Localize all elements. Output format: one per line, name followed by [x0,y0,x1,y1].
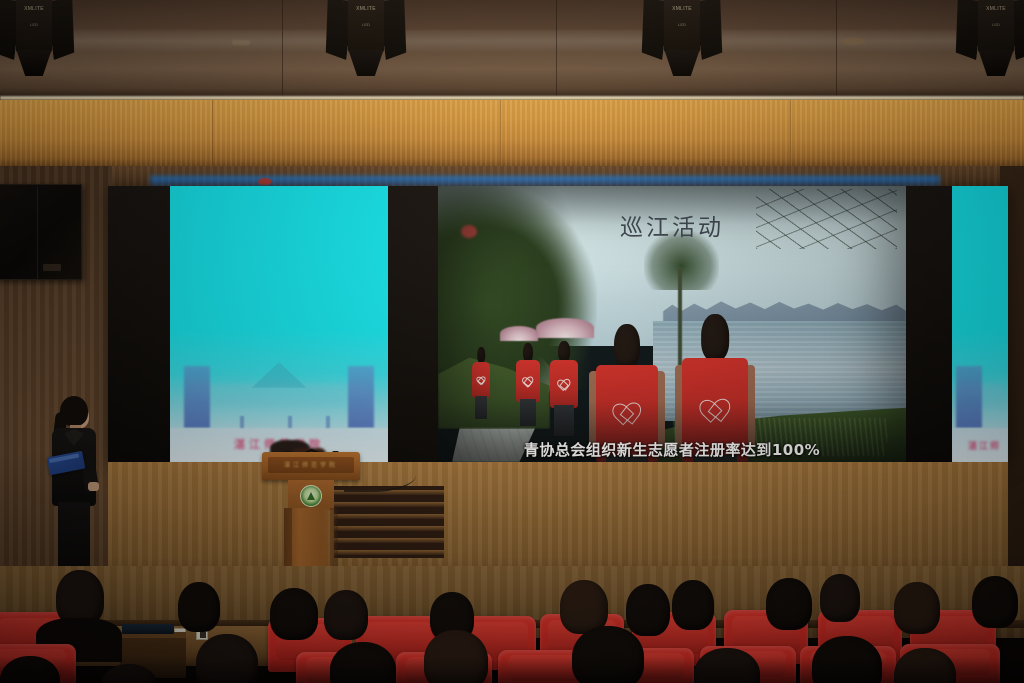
auditorium-scene: XMLITE LED XMLITE LED XMLITE LED XMLITE … [0,0,1024,683]
foreground-shadow [0,657,1024,683]
slide-caption: 青协总会组织新生志愿者注册率达到100% [438,439,906,460]
light-yoke [976,50,1016,76]
led-panel-left: 湛江师范学院 [170,186,388,462]
audience-head [672,580,714,630]
wood-wall-band [0,100,1024,166]
photo-volunteer [472,336,490,398]
stage-light: XMLITE LED [634,0,730,80]
photo-volunteer [550,326,578,408]
led-panel-center: 巡江活动 青协总会组织新生志愿者注册率达到100% [438,186,906,462]
audience-head [178,582,220,632]
photo-volunteer-main [682,282,748,462]
stage-light: XMLITE LED [318,0,414,80]
light-brand-label: XMLITE [666,6,698,13]
cyan-figure [240,416,244,428]
volunteer-vest [550,360,578,408]
audience-head [626,584,670,636]
audience-area [0,560,1024,683]
volunteer-head [477,347,485,363]
ceiling-seam [556,0,557,96]
cyan-gate-pillar [184,366,210,428]
school-crest-icon [300,485,322,507]
heart-icon [557,379,570,390]
volunteer-legs [554,405,573,436]
stage-light: XMLITE LED [0,0,82,80]
audience-head [820,574,860,622]
light-yoke [14,50,54,76]
right-panel-caption: 湛江师 [968,439,1001,452]
light-brand-label: XMLITE [350,6,382,13]
stage-light: XMLITE LED [948,0,1024,80]
photo-volunteer [516,330,540,402]
led-video-wall: 湛江师范学院 [108,186,1008,462]
cyan-figure [326,416,330,428]
light-sub-label: LED [980,22,1012,27]
audience-head [972,576,1018,628]
volunteer-head [558,341,570,362]
light-sub-label: LED [666,22,698,27]
led-bezel-mid-right [906,186,952,462]
light-yoke [662,50,702,76]
heart-icon [522,376,533,386]
presenter-hair [60,396,88,426]
audience-head [324,590,368,640]
volunteer-legs [475,396,487,420]
podium-gold-text: 湛江师范学院 [272,460,350,469]
light-brand-label: XMLITE [18,6,50,13]
left-panel-image: 湛江师范学院 [170,186,388,462]
wall-seam [500,100,501,166]
speaker-badge [43,264,61,271]
light-sub-label: LED [18,22,50,27]
led-bezel-mid-left [388,186,438,462]
volunteer-head [701,314,729,361]
wall-speaker [0,184,82,280]
volunteer-legs [520,399,536,426]
led-panel-right: 湛江师 [952,186,1008,462]
volunteer-vest [516,360,540,402]
photo-volunteer-main [596,294,658,462]
ceiling-seam [836,0,837,96]
ceiling-vent [840,38,866,45]
heart-icon [477,376,485,384]
light-yoke [346,50,386,76]
cyan-gate-pillar [348,366,374,428]
led-bezel-far-left [108,186,170,462]
ceiling-seam [282,0,283,96]
wall-seam [212,100,213,166]
ceiling-light-band [0,30,1024,52]
presenter-hand [88,482,99,491]
cyan-gate-pillar [956,366,982,428]
audience-head [894,582,940,634]
right-panel-image: 湛江师 [952,186,1008,462]
audience-head [270,588,318,640]
presenter [44,396,106,578]
ceiling-slot [232,40,250,45]
light-brand-label: XMLITE [980,6,1012,13]
led-indicator-light [258,178,272,185]
slide-photo: 巡江活动 青协总会组织新生志愿者注册率达到100% [438,186,906,462]
volunteer-head [523,343,533,362]
volunteer-vest [472,362,490,398]
heart-icon [613,402,642,425]
volunteer-head [614,324,640,368]
heart-icon [700,397,731,422]
slide-title: 巡江活动 [438,208,906,242]
wall-seam [790,100,791,166]
cyan-figure [288,416,292,428]
audience-head [766,578,812,630]
speaker-seam [37,187,38,279]
ceiling [0,0,1024,96]
light-sub-label: LED [350,22,382,27]
